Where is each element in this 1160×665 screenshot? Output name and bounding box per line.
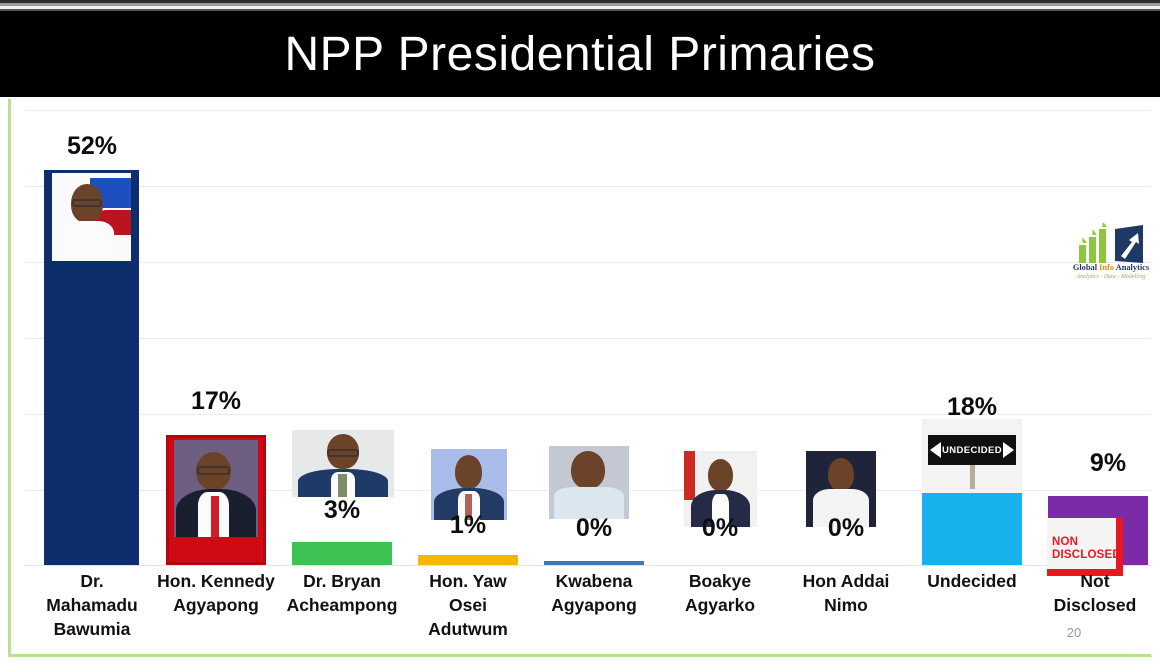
x-label-boakye-agyarko: Boakye Agyarko [660,569,780,617]
logo-tagline: Analytics - Data - Modelling [1059,274,1160,280]
bar-bryan-acheampong[interactable] [292,542,392,565]
bar-kwabena-agyapong[interactable] [544,561,644,565]
bar-chart-growth-icon [1059,223,1160,267]
chart-frame: 52% 17% 3% [8,99,1152,657]
portrait-kennedy-agyapong [174,440,258,537]
portrait-bryan-acheampong [292,430,394,497]
logo-word-global: Global [1073,263,1099,272]
x-label-yaw-osei-adutwum: Hon. Yaw Osei Adutwum [408,569,528,641]
page-title: NPP Presidential Primaries [285,27,876,82]
value-label-boakye-agyarko: 0% [670,514,770,543]
value-label-kwabena-agyapong: 0% [544,514,644,543]
x-label-kwabena-agyapong: Kwabena Agyapong [534,569,654,617]
value-label-hon-addai-nimo: 0% [796,514,896,543]
arrow-left-icon [930,442,941,458]
non-disclosed-stamp-icon: NON DISCLOSED [1047,518,1123,576]
value-label-kennedy-agyapong: 17% [166,387,266,416]
gridline [25,110,1151,111]
stamp-line-1: NON [1052,536,1078,548]
x-label-bryan-acheampong: Dr. Bryan Acheampong [280,569,404,617]
value-label-bryan-acheampong: 3% [292,496,392,525]
value-label-undecided: 18% [922,393,1022,422]
plot-area: 52% 17% 3% [11,99,1155,565]
bar-hon-addai-nimo[interactable] [796,563,896,565]
x-axis-labels: Dr. Mahamadu Bawumia Hon. Kennedy Agyapo… [11,569,1155,657]
axis-baseline [25,565,1151,566]
x-label-not-disclosed: Not Disclosed [1038,569,1152,617]
gridline [25,262,1151,263]
value-label-bawumia: 52% [42,132,142,161]
value-label-yaw-osei-adutwum: 1% [418,511,518,540]
sign-label: UNDECIDED [942,445,1002,456]
global-info-analytics-logo: Global Info Analytics Analytics - Data -… [1059,223,1160,281]
x-label-hon-addai-nimo: Hon Addai Nimo [786,569,906,617]
bar-boakye-agyarko[interactable] [670,563,770,565]
undecided-sign-icon: UNDECIDED [922,419,1022,493]
x-label-undecided: Undecided [912,569,1032,593]
stamp-line-2: DISCLOSED [1052,549,1121,561]
logo-word-info: Info [1099,263,1114,272]
x-label-kennedy-agyapong: Hon. Kennedy Agyapong [154,569,278,617]
title-banner: NPP Presidential Primaries [0,11,1160,97]
logo-wordmark: Global Info Analytics [1059,263,1160,272]
sign-board: UNDECIDED [928,435,1016,465]
gridline [25,338,1151,339]
value-label-not-disclosed: 9% [1058,449,1158,478]
logo-word-analytics: Analytics [1114,263,1149,272]
x-label-bawumia: Dr. Mahamadu Bawumia [42,569,142,641]
portrait-yaw-osei-adutwum [431,449,507,520]
slide-canvas: NPP Presidential Primaries 52% [0,0,1160,665]
portrait-bawumia [52,173,131,261]
page-number: 20 [1032,625,1116,640]
gridline [25,186,1151,187]
bar-yaw-osei-adutwum[interactable] [418,555,518,565]
sign-post [970,465,975,489]
arrow-right-icon [1003,442,1014,458]
portrait-kwabena-agyapong [549,446,629,519]
